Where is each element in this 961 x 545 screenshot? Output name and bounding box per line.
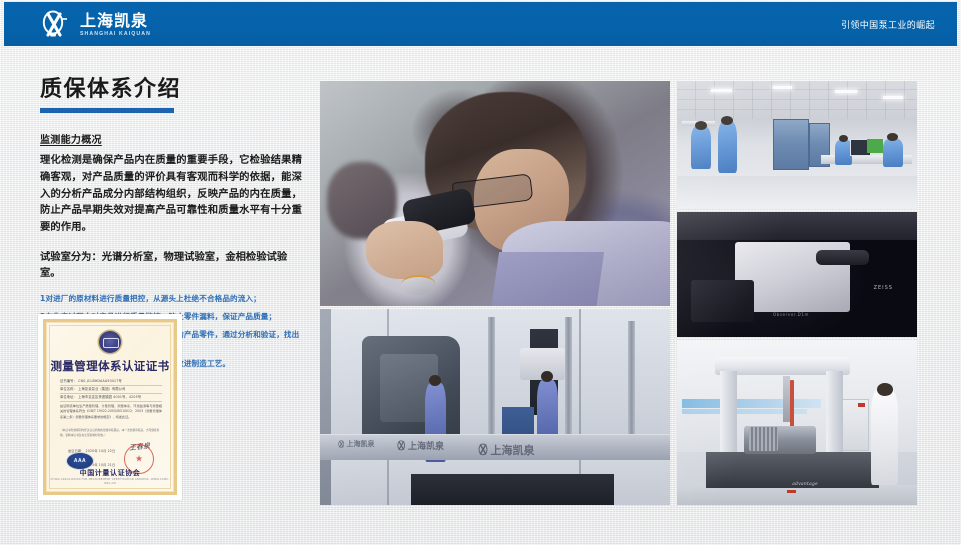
technician-head bbox=[877, 383, 893, 396]
certificate-border: 测量管理体系认证证书 证书编号： CNS-JCLBHDAAA50417号 单位名… bbox=[43, 319, 177, 495]
technician-lab-coat bbox=[871, 390, 897, 486]
lab-worker-head bbox=[721, 116, 733, 125]
certificate-issuer: 中国计量认证协会 bbox=[46, 468, 174, 478]
intro-paragraph: 理化检测是确保产品内在质量的重要手段，它检验结果精确客观，对产品质量的评价具有客… bbox=[40, 152, 302, 235]
brand-logo[interactable]: 上海凯泉 SHANGHAI KAIQUAN bbox=[40, 9, 151, 39]
glass-frame-post bbox=[320, 309, 331, 505]
test-display-screen bbox=[867, 139, 884, 153]
equipment-model-label: Observer.D1m bbox=[773, 312, 809, 317]
photo-gallery: 技术人员显微镜检测 理化检测实验室全景 bbox=[320, 81, 917, 505]
section-subheading: 监测能力概况 bbox=[40, 131, 302, 146]
cabinet-indicator-light bbox=[858, 403, 865, 407]
measurement-authority-emblem-icon bbox=[99, 331, 121, 353]
brand-accent-mark bbox=[787, 490, 796, 493]
ceiling-light bbox=[711, 89, 733, 92]
wall-brand-mark-small: 上海凯泉 bbox=[338, 439, 375, 449]
equipment-brand-label: ZEISS bbox=[874, 285, 893, 291]
photo-testing-lab[interactable]: 上海凯泉 上海凯泉 上海凯泉 物理性能试验机房 bbox=[320, 309, 670, 505]
certificate-body-text: 兹证明该单位生产质量管理、计量管理、测量体系、环境监测等与测量相关的管理体系符合… bbox=[60, 404, 162, 420]
machine-column bbox=[628, 321, 635, 446]
cmm-left-column bbox=[720, 371, 737, 457]
red-cable bbox=[790, 380, 794, 430]
lab-worker bbox=[691, 126, 710, 170]
certificate-issuer-sub: CHINA ASSOCIATION FOR MEASUREMENT CERTIF… bbox=[46, 478, 174, 486]
photo-equipment[interactable]: ZEISS Observer.D1m 蔡司显微镜设备特写 bbox=[677, 212, 917, 337]
logo-text-en: SHANGHAI KAIQUAN bbox=[80, 32, 151, 37]
cmm-right-column bbox=[826, 371, 843, 457]
cmm-brand-label: advantage bbox=[792, 482, 818, 487]
ceiling-light bbox=[835, 90, 857, 93]
header-bar: 上海凯泉 SHANGHAI KAIQUAN 引领中国泵工业的崛起 bbox=[4, 2, 957, 46]
wall-brand-mark: 上海凯泉 bbox=[397, 439, 444, 452]
machine-column bbox=[565, 317, 572, 450]
machine-base-platform bbox=[411, 474, 614, 505]
machine-column bbox=[488, 317, 495, 450]
laboratory-types-line: 试验室分为：光谱分析室，物理试验室，金相检验试验室。 bbox=[40, 250, 302, 282]
photo-cmm[interactable]: advantage 三坐标测量机检测 bbox=[677, 340, 917, 505]
lab-worker-head bbox=[887, 133, 898, 141]
page-title: 质保体系介绍 bbox=[40, 78, 302, 102]
certificate-number: 证书编号： CNS-JCLBHDAAA50417号 bbox=[60, 378, 162, 386]
cmm-probe-head bbox=[783, 376, 790, 422]
list-item: 1对进厂的原材料进行质量把控，从源头上杜绝不合格品的流入； bbox=[40, 293, 302, 304]
shirt-collar bbox=[491, 252, 604, 306]
microscope-arm bbox=[816, 250, 869, 265]
control-cabinet bbox=[838, 399, 869, 451]
brand-text: 上海凯泉 bbox=[347, 439, 375, 449]
wall-brand-mark-large: 上海凯泉 bbox=[478, 442, 535, 458]
certificate-address: 单位地址： 上海市嘉定区黄渡镇园 4001号、4205号 bbox=[60, 394, 162, 402]
lab-worker bbox=[883, 139, 902, 167]
certificate-image[interactable]: 测量管理体系认证证书 证书编号： CNS-JCLBHDAAA50417号 单位名… bbox=[38, 314, 182, 500]
kaiquan-pump-logo-icon bbox=[40, 9, 74, 39]
certificate-company: 单位名称： 上海凯泉泵业（集团）有限公司 bbox=[60, 386, 162, 394]
equipment-cabinet bbox=[773, 119, 809, 170]
header-slogan: 引领中国泵工业的崛起 bbox=[841, 2, 935, 46]
logo-text-cn: 上海凯泉 bbox=[80, 13, 151, 29]
lab-floor bbox=[677, 176, 917, 209]
photo-lab-room[interactable]: 理化检测实验室全景 bbox=[677, 81, 917, 209]
title-underline-rule bbox=[40, 108, 174, 113]
ceiling-light bbox=[773, 86, 792, 89]
certificate-note-text: （本证书有效期间内经过认证机构的监督审核确认，本一次监督审核后，方可继续有效。复… bbox=[60, 428, 162, 437]
lab-worker bbox=[718, 121, 737, 173]
brand-text: 上海凯泉 bbox=[408, 439, 444, 452]
dark-bench-top bbox=[677, 212, 917, 240]
wall-signage-stripe bbox=[682, 399, 821, 407]
ceiling-grid bbox=[677, 81, 917, 119]
photo-microscope[interactable]: 技术人员显微镜检测 bbox=[320, 81, 670, 306]
brand-text: 上海凯泉 bbox=[491, 442, 535, 458]
slide-root: 上海凯泉 SHANGHAI KAIQUAN 引领中国泵工业的崛起 质保体系介绍 … bbox=[0, 0, 961, 545]
wristwatch-icon bbox=[401, 275, 436, 295]
certificate-title: 测量管理体系认证证书 bbox=[46, 358, 174, 374]
workpiece-bellows-section bbox=[749, 427, 778, 450]
microscope-camera-lens bbox=[691, 280, 753, 323]
person-hand bbox=[366, 221, 443, 280]
lab-worker-head bbox=[695, 121, 707, 130]
ceiling-light bbox=[883, 96, 902, 99]
